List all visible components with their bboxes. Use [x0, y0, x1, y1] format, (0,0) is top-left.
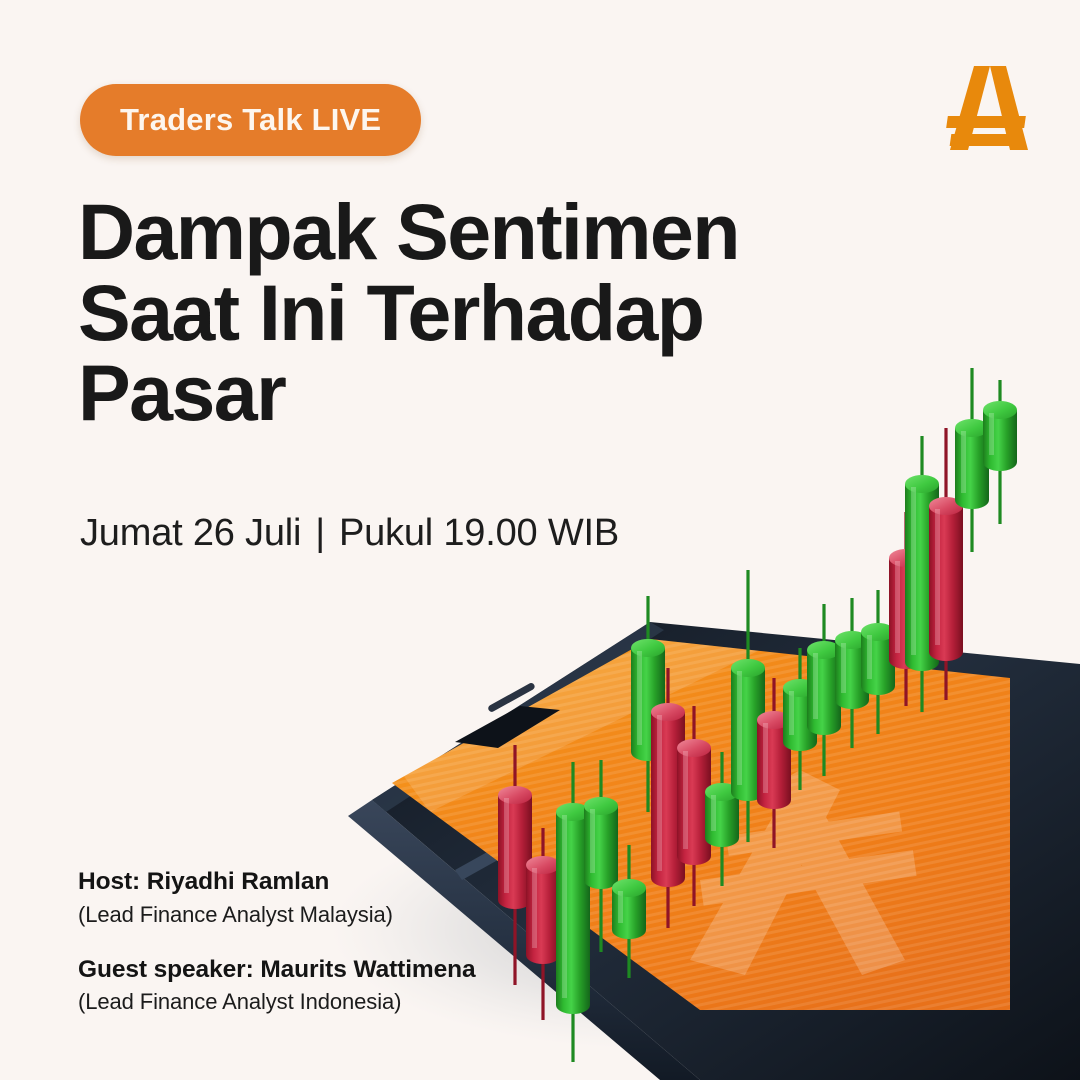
credit-guest: Guest speaker: Maurits Wattimena (Lead F…	[78, 954, 476, 1018]
phone-earpiece	[487, 682, 536, 713]
live-badge[interactable]: Traders Talk LIVE	[80, 84, 421, 156]
candle	[705, 752, 739, 886]
candle	[807, 604, 841, 776]
phone-notch	[455, 706, 560, 748]
brand-a-logo-icon	[928, 58, 1048, 158]
credit-guest-role: (Lead Finance Analyst Indonesia)	[78, 987, 476, 1017]
candle	[783, 648, 817, 790]
phone-body	[372, 622, 1080, 1080]
phone-screen	[392, 639, 1010, 1010]
headline-line-2: Saat Ini Terhadap	[78, 273, 838, 354]
candle	[651, 668, 685, 928]
page-title: Dampak Sentimen Saat Ini Terhadap Pasar	[78, 192, 838, 434]
candle	[584, 760, 618, 952]
candle	[612, 845, 646, 978]
live-badge-label: Traders Talk LIVE	[120, 102, 381, 138]
candlestick-series	[498, 368, 1017, 1062]
candle	[677, 706, 711, 906]
credit-guest-name: Guest speaker: Maurits Wattimena	[78, 954, 476, 986]
candle	[929, 428, 963, 700]
screen-watermark-logo-icon	[690, 770, 917, 975]
candle	[556, 762, 590, 1062]
candle	[498, 745, 532, 985]
candle	[983, 380, 1017, 524]
candle	[889, 512, 923, 706]
schedule-line: Jumat 26 Juli | Pukul 19.00 WIB	[80, 512, 619, 555]
headline-line-3: Pasar	[78, 353, 838, 434]
credit-host-role: (Lead Finance Analyst Malaysia)	[78, 900, 476, 930]
schedule-separator: |	[315, 512, 325, 555]
credit-host: Host: Riyadhi Ramlan (Lead Finance Analy…	[78, 866, 476, 930]
candle	[757, 678, 791, 848]
candle	[955, 368, 989, 552]
candle	[905, 436, 939, 712]
schedule-date: Jumat 26 Juli	[80, 512, 301, 555]
candle	[526, 828, 560, 1020]
schedule-time: Pukul 19.00 WIB	[339, 512, 619, 555]
promo-poster: Traders Talk LIVE Dampak Sentimen Saat I…	[0, 0, 1080, 1080]
candle	[861, 590, 895, 734]
credit-host-name: Host: Riyadhi Ramlan	[78, 866, 476, 898]
headline-line-1: Dampak Sentimen	[78, 192, 838, 273]
credits-list: Host: Riyadhi Ramlan (Lead Finance Analy…	[78, 866, 476, 1041]
candle	[835, 598, 869, 748]
candle	[631, 596, 665, 812]
candle	[731, 570, 765, 842]
